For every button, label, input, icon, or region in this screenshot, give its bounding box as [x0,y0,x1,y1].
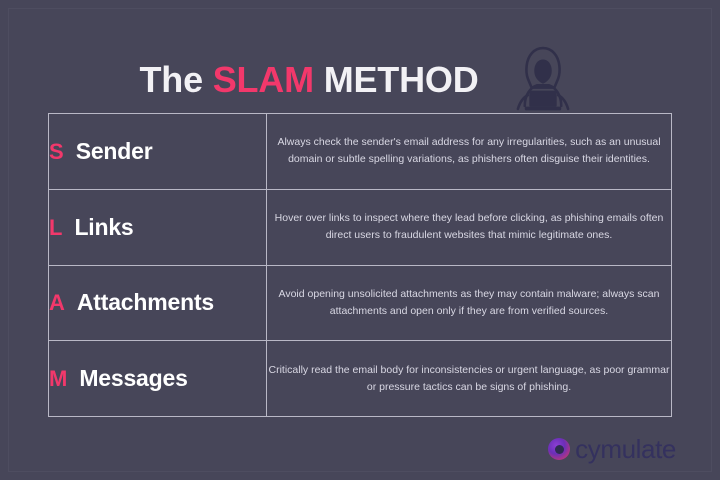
slam-table: S Sender Always check the sender's email… [48,113,672,417]
label-word: Links [74,214,133,241]
table-row: M Messages Critically read the email bod… [49,341,672,417]
cymulate-logo: cymulate [548,436,676,462]
label-line: A Attachments [49,289,266,316]
label-line: L Links [49,214,266,241]
description-cell-attachments: Avoid opening unsolicited attachments as… [267,265,672,341]
cymulate-wordmark: cymulate [575,436,676,462]
label-word: Messages [79,365,187,392]
description-cell-sender: Always check the sender's email address … [267,114,672,190]
label-line: M Messages [49,365,266,392]
label-cell-attachments: A Attachments [49,265,267,341]
infographic-page: The SLAM METHOD [0,0,720,480]
label-letter: A [49,290,65,316]
title-suffix: METHOD [314,59,479,100]
description-text: Hover over links to inspect where they l… [267,210,671,244]
page-title: The SLAM METHOD [139,62,478,98]
cymulate-ring-icon [548,438,570,460]
label-cell-messages: M Messages [49,341,267,417]
label-letter: L [49,215,62,241]
label-line: S Sender [49,138,266,165]
table-row: L Links Hover over links to inspect wher… [49,189,672,265]
description-text: Avoid opening unsolicited attachments as… [267,286,671,320]
label-word: Attachments [77,289,214,316]
table-row: A Attachments Avoid opening unsolicited … [49,265,672,341]
label-cell-links: L Links [49,189,267,265]
table-row: S Sender Always check the sender's email… [49,114,672,190]
description-cell-links: Hover over links to inspect where they l… [267,189,672,265]
label-cell-sender: S Sender [49,114,267,190]
label-letter: M [49,366,67,392]
title-accent: SLAM [213,59,314,100]
label-letter: S [49,139,64,165]
title-prefix: The [139,59,212,100]
description-cell-messages: Critically read the email body for incon… [267,341,672,417]
hacker-hooded-laptop-icon [505,42,581,118]
description-text: Critically read the email body for incon… [267,362,671,396]
header: The SLAM METHOD [0,40,720,120]
description-text: Always check the sender's email address … [267,134,671,168]
label-word: Sender [76,138,153,165]
